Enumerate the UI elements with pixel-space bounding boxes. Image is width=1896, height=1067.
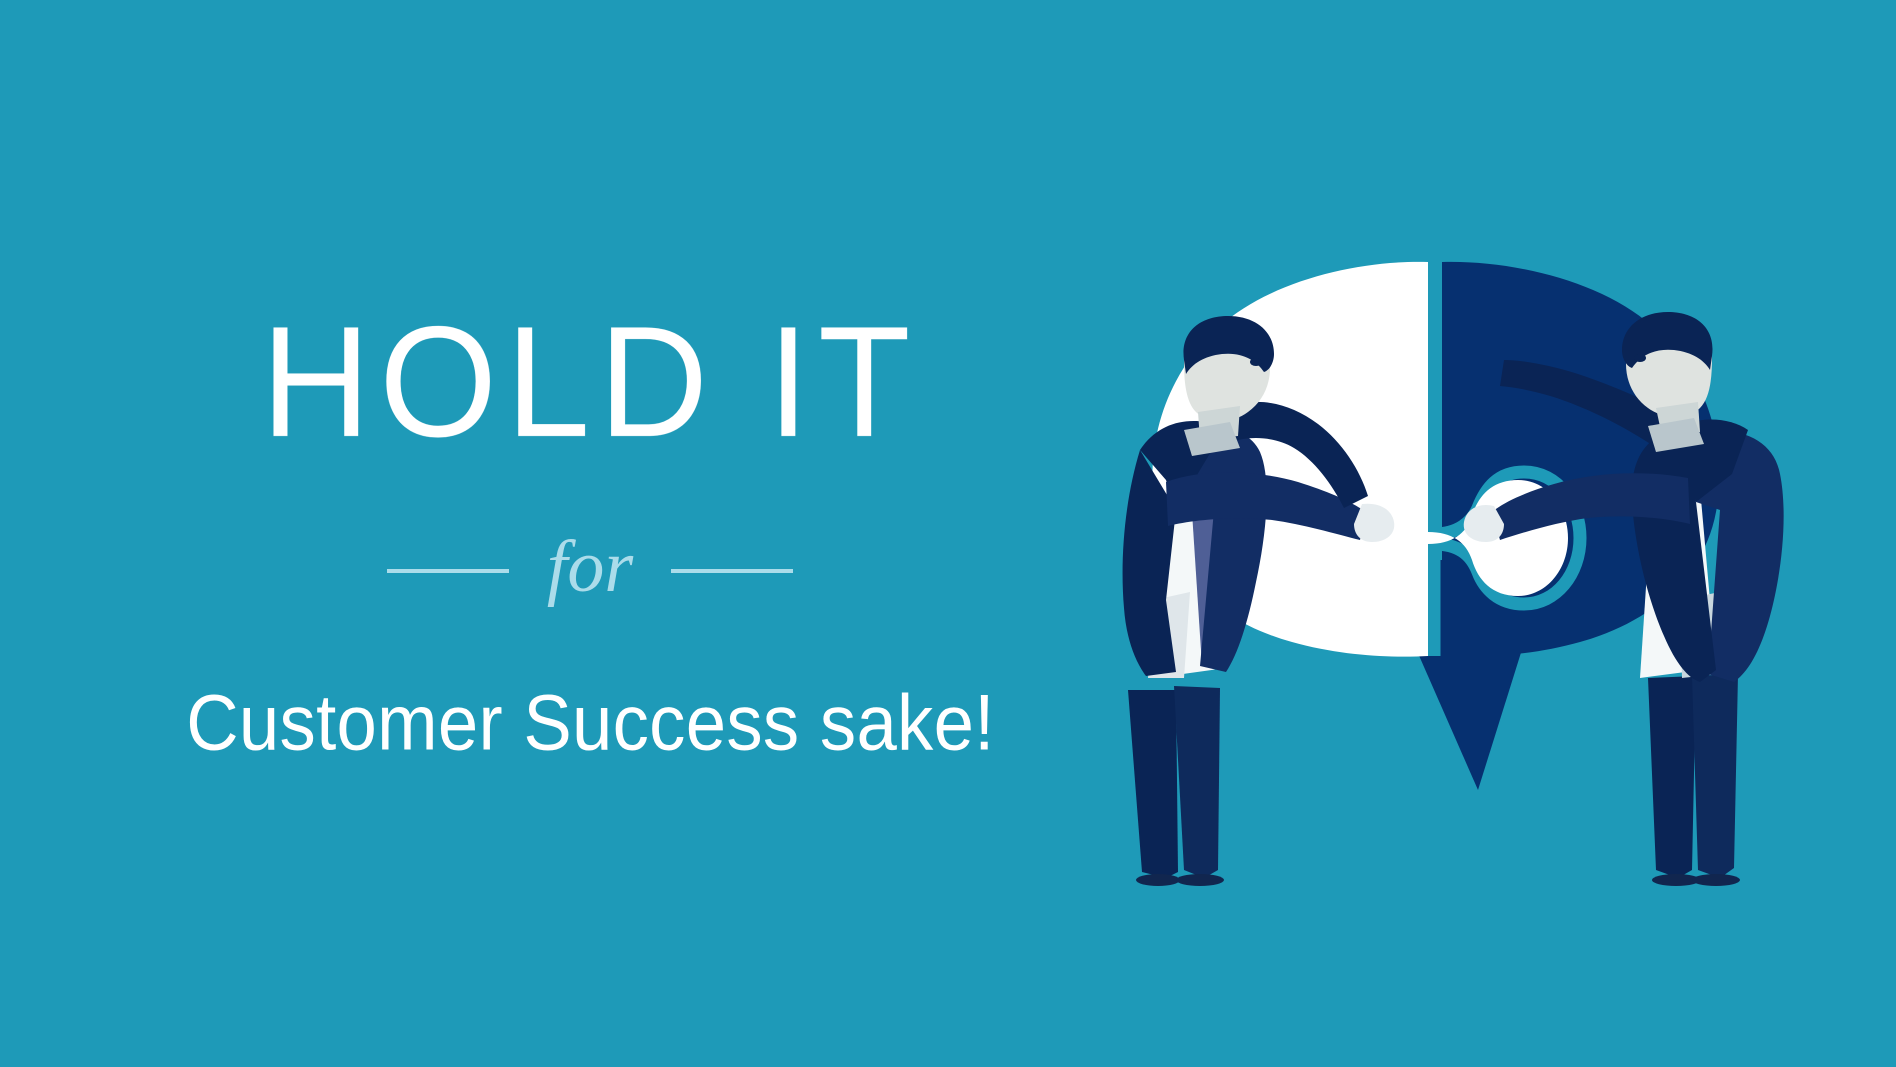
left-figure-eye xyxy=(1250,358,1262,366)
page-title: HOLD IT xyxy=(261,303,919,461)
right-figure-leg-front xyxy=(1692,674,1738,878)
text-block: HOLD IT for Customer Success sake! xyxy=(0,0,1170,1067)
right-figure-leg-back xyxy=(1648,676,1696,878)
poster-canvas: HOLD IT for Customer Success sake! xyxy=(0,0,1896,1067)
connector-word: for xyxy=(547,530,633,612)
left-figure-leg-front xyxy=(1174,686,1220,878)
text-block-inner: HOLD IT for Customer Success sake! xyxy=(200,306,980,762)
divider-row: for xyxy=(200,530,980,612)
left-figure-shoe-front xyxy=(1176,874,1224,886)
left-figure-leg-back xyxy=(1128,690,1178,878)
divider-rule-right xyxy=(671,569,793,573)
right-figure-shoe-front xyxy=(1692,874,1740,886)
left-figure-shoe-back xyxy=(1136,874,1180,886)
page-subtitle: Customer Success sake! xyxy=(186,681,994,763)
right-figure-eye xyxy=(1634,354,1646,362)
illustration-speech-bubble-jigsaw xyxy=(1080,130,1896,920)
divider-rule-left xyxy=(387,569,509,573)
